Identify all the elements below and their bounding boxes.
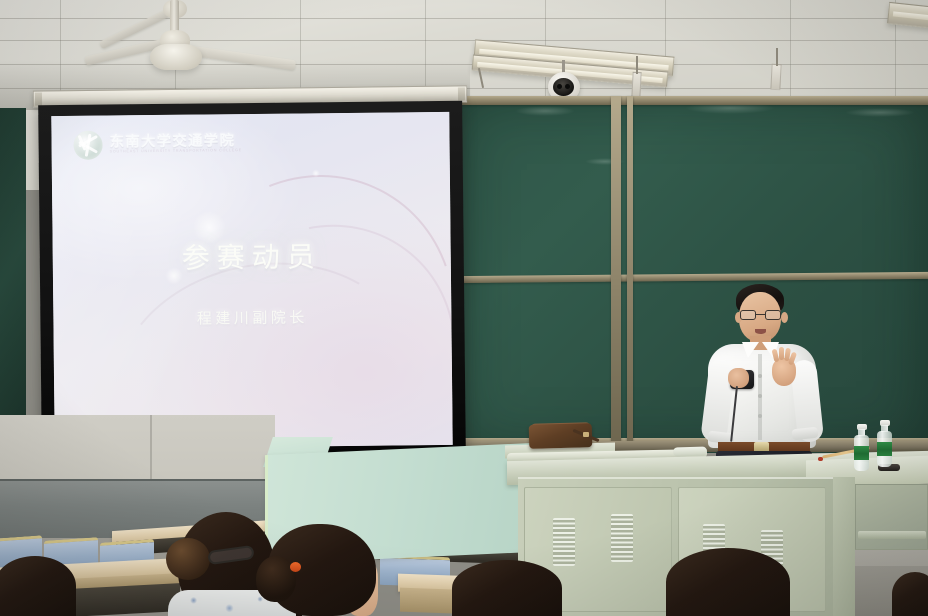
podium-shelf: [855, 484, 928, 550]
podium-leg: [833, 477, 855, 616]
presenter-gesturing-hand: [772, 358, 796, 386]
slide-title: 参赛动员: [53, 234, 451, 278]
screen-surface: 东南大学交通学院 SOUTHEAST UNIVERSITY TRANSPORTA…: [51, 112, 452, 449]
hanger-wire-2: [776, 48, 778, 66]
wall-corner: [150, 415, 152, 485]
student-ponytail: [256, 556, 296, 602]
university-emblem-icon: [73, 131, 102, 160]
shirt-button: [758, 374, 762, 378]
hair-scrunchie: [290, 562, 301, 572]
ear: [781, 312, 788, 323]
slide-logo: 东南大学交通学院 SOUTHEAST UNIVERSITY TRANSPORTA…: [73, 129, 242, 160]
slide-subtitle: 程建川副院长: [53, 305, 451, 330]
presenter-hand-holding-clicker: [728, 368, 749, 388]
bag-buckle: [583, 432, 589, 437]
student-hair-bun: [166, 538, 210, 580]
blackboard-rail-top: [455, 96, 928, 105]
blackboard-left-edge: [0, 108, 26, 418]
hanger-wire: [636, 56, 638, 74]
blackboard-mullion-2: [627, 96, 633, 444]
shirt-button: [758, 414, 762, 418]
student-head: [892, 572, 928, 616]
wall-hanger-1: [631, 72, 641, 98]
eyeglasses-icon: [740, 310, 781, 320]
student-head: [452, 560, 562, 616]
pointer-tip: [818, 457, 823, 461]
desk-microphone[interactable]: [673, 447, 707, 457]
ceiling-fan-icon: [0, 0, 300, 90]
water-bottle[interactable]: [854, 424, 872, 472]
shirt-button: [758, 394, 762, 398]
mouth: [755, 329, 766, 334]
projection-screen[interactable]: 东南大学交通学院 SOUTHEAST UNIVERSITY TRANSPORTA…: [38, 101, 466, 460]
logo-english-name: SOUTHEAST UNIVERSITY TRANSPORTATION COLL…: [110, 150, 242, 155]
presenter: [702, 282, 824, 482]
logo-chinese-name: 东南大学交通学院: [109, 134, 242, 150]
water-bottle[interactable]: [877, 420, 895, 468]
student-head: [666, 548, 790, 616]
lecture-hall-photo: 东南大学交通学院 SOUTHEAST UNIVERSITY TRANSPORTA…: [0, 0, 928, 616]
student-head: [0, 556, 76, 616]
presentation-slide: 东南大学交通学院 SOUTHEAST UNIVERSITY TRANSPORTA…: [51, 112, 452, 449]
podium-shelf-rail: [858, 531, 926, 539]
wall-hanger-2: [770, 64, 781, 90]
blackboard-mullion-1: [611, 96, 621, 444]
